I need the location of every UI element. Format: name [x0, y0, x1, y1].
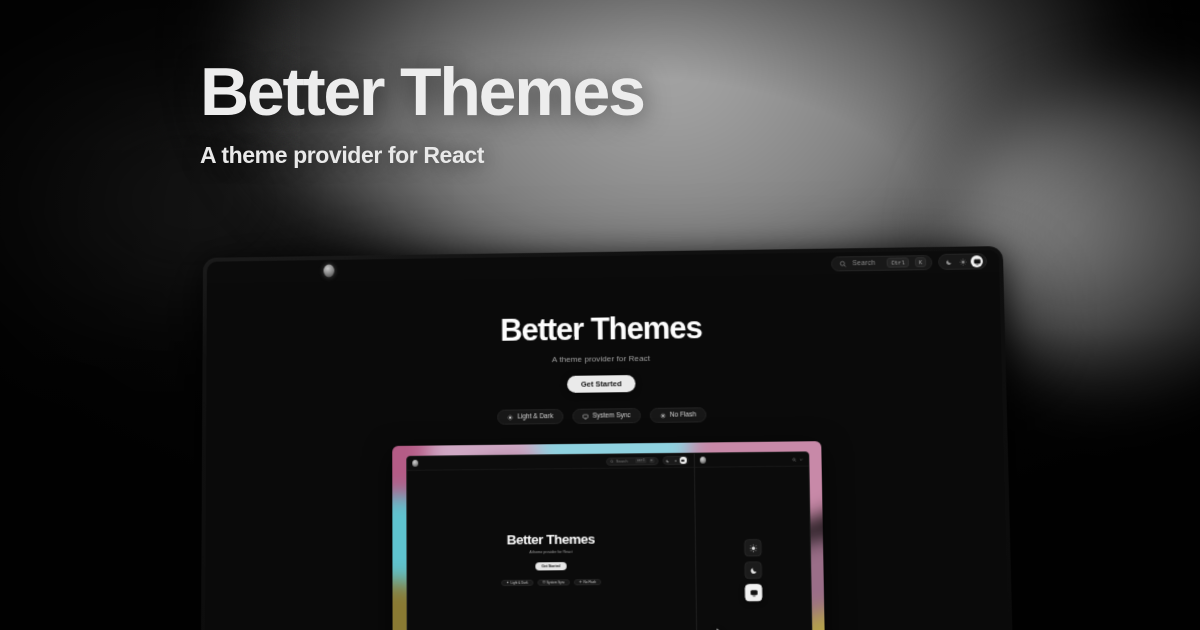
theme-toggle-system[interactable] [971, 255, 983, 267]
nested-feature-pill-no-flash[interactable]: No Flash [574, 579, 601, 586]
sun-icon [506, 581, 509, 584]
browser-viewport: Better Themes A theme provider for React… [205, 272, 1009, 630]
kbd-modifier: Ctrl [887, 257, 909, 267]
nested-site-hero: Better Themes A theme provider for React… [407, 468, 695, 587]
site-hero: Better Themes A theme provider for React… [206, 272, 1003, 428]
search-icon [792, 457, 796, 461]
monitor-icon [542, 581, 545, 584]
laptop-mockup: Search Ctrl K [200, 252, 1000, 630]
page-subtitle: A theme provider for React [200, 142, 644, 169]
feature-label: No Flash [584, 580, 597, 584]
theme-toggle-dark[interactable] [665, 457, 672, 464]
moon-icon [945, 258, 952, 265]
nested-feature-pill-row: Light & Dark System Sync No Flash [408, 578, 696, 587]
search-placeholder: Search [852, 259, 881, 266]
sun-icon [749, 544, 757, 552]
feature-label: Light & Dark [517, 413, 553, 420]
kbd-modifier: Ctrl [636, 458, 646, 463]
search-input[interactable]: Search Ctrl K [831, 255, 932, 271]
feature-pill-light-dark[interactable]: Light & Dark [497, 409, 563, 425]
monitor-icon [681, 458, 685, 462]
laptop-lid: Search Ctrl K [201, 246, 1013, 630]
sparkle-icon [660, 412, 666, 418]
theme-switch-system[interactable] [745, 584, 763, 601]
nested-right-topbar [695, 452, 809, 467]
kbd-key: K [915, 257, 927, 267]
get-started-button[interactable]: Get Started [567, 375, 636, 393]
sun-icon [959, 258, 966, 265]
webcam-icon [700, 457, 706, 464]
search-icon [839, 260, 846, 267]
feature-pill-row: Light & Dark System Sync N [206, 404, 1003, 428]
theme-toggle-light[interactable] [672, 457, 679, 464]
nested-search-input[interactable]: Search Ctrl K [606, 457, 659, 466]
poster-canvas: Better Themes A theme provider for React… [0, 0, 1200, 630]
kbd-key: K [649, 458, 654, 463]
monitor-icon [973, 258, 980, 265]
theme-toggle-dark[interactable] [942, 256, 954, 268]
nested-window-left-pane: Search Ctrl K [407, 454, 698, 630]
feature-label: Light & Dark [511, 580, 528, 584]
nested-right-controls[interactable] [792, 457, 803, 461]
hero-block: Better Themes A theme provider for React [200, 58, 644, 169]
theme-toggle-system[interactable] [680, 457, 687, 464]
nested-window: Search Ctrl K [406, 451, 813, 630]
chevron-down-icon[interactable] [799, 457, 803, 461]
monitor-icon [582, 413, 588, 419]
theme-switch-light[interactable] [744, 539, 762, 556]
theme-switcher-stack[interactable] [744, 539, 762, 601]
search-placeholder: Search [616, 459, 633, 463]
feature-pill-no-flash[interactable]: No Flash [650, 407, 707, 423]
webcam-icon [324, 264, 335, 277]
sun-icon [673, 458, 677, 462]
moon-icon [749, 566, 757, 574]
nested-screenshot: Search Ctrl K [392, 441, 825, 630]
nested-feature-pill-light-dark[interactable]: Light & Dark [501, 579, 533, 586]
nested-site-title: Better Themes [407, 530, 695, 548]
moon-icon [666, 458, 670, 462]
nested-theme-toggle-group[interactable] [662, 456, 689, 465]
theme-toggle-group[interactable] [938, 253, 987, 270]
sparkle-icon [579, 580, 582, 583]
site-title: Better Themes [207, 306, 1002, 353]
search-icon [610, 459, 614, 463]
sun-icon [507, 414, 513, 420]
theme-switch-dark[interactable] [744, 561, 762, 578]
feature-label: No Flash [670, 411, 696, 418]
feature-label: System Sync [592, 412, 630, 419]
theme-toggle-light[interactable] [956, 256, 968, 268]
feature-pill-system-sync[interactable]: System Sync [572, 408, 640, 424]
nested-feature-pill-system-sync[interactable]: System Sync [537, 579, 570, 586]
nested-get-started-button[interactable]: Get Started [536, 562, 567, 570]
nested-window-right-pane [695, 452, 812, 630]
monitor-icon [749, 589, 757, 597]
page-title: Better Themes [200, 58, 644, 126]
feature-label: System Sync [547, 580, 565, 584]
browser-topbar: Search Ctrl K [831, 253, 987, 271]
webcam-icon [412, 460, 418, 467]
